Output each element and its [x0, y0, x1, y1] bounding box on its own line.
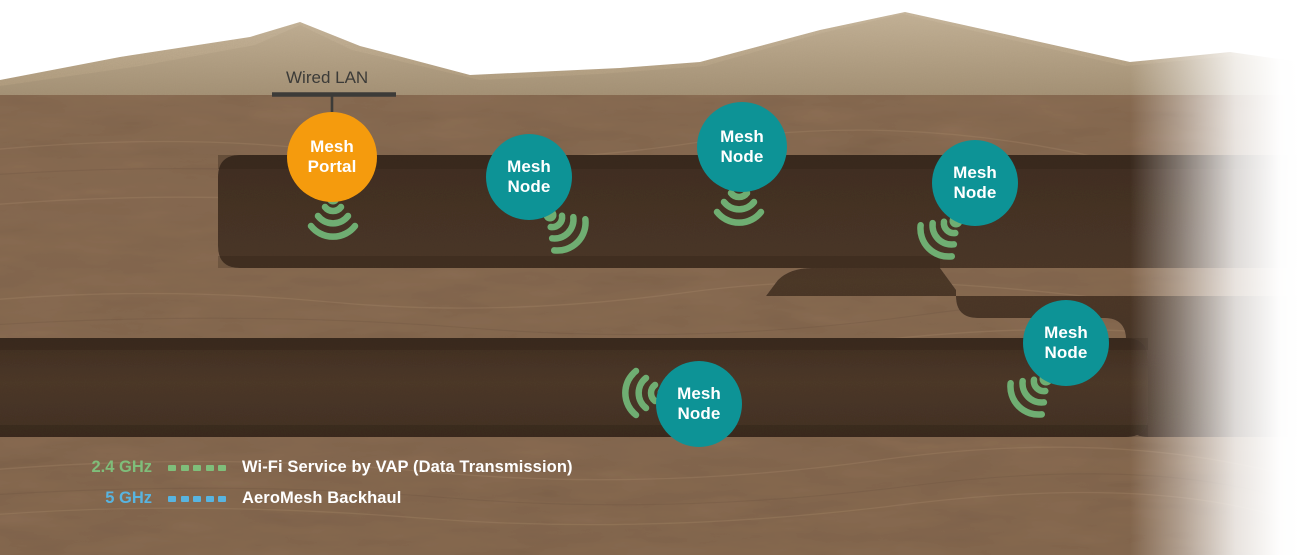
node-mesh-node-4[interactable]: Mesh Node [1023, 300, 1109, 386]
node-label-line1: Mesh [677, 384, 721, 404]
legend-row-24ghz: 2.4 GHz Wi-Fi Service by VAP (Data Trans… [70, 452, 573, 483]
legend-row-5ghz: 5 GHz AeroMesh Backhaul [70, 483, 573, 514]
node-label-line2: Node [954, 183, 997, 203]
node-label-line1: Mesh [310, 137, 354, 157]
node-label-line2: Node [508, 177, 551, 197]
node-mesh-node-5[interactable]: Mesh Node [656, 361, 742, 447]
tunnel-scene: Wired LAN [0, 0, 1300, 555]
node-mesh-node-2[interactable]: Mesh Node [697, 102, 787, 192]
wired-lan-label: Wired LAN [286, 68, 368, 88]
node-mesh-node-1[interactable]: Mesh Node [486, 134, 572, 220]
legend-dash-5ghz [168, 496, 226, 502]
legend: 2.4 GHz Wi-Fi Service by VAP (Data Trans… [70, 452, 573, 514]
node-label-line2: Node [1045, 343, 1088, 363]
node-label-line1: Mesh [507, 157, 551, 177]
legend-frequency-5ghz: 5 GHz [70, 489, 152, 508]
legend-label-5ghz: AeroMesh Backhaul [242, 489, 401, 508]
wifi-arcs-portal [306, 196, 360, 244]
node-label-line2: Node [721, 147, 764, 167]
node-label-line2: Node [678, 404, 721, 424]
diagram-canvas: Wired LAN [0, 0, 1300, 555]
legend-frequency-24ghz: 2.4 GHz [70, 458, 152, 477]
legend-dash-24ghz [168, 465, 226, 471]
node-label-line1: Mesh [1044, 323, 1088, 343]
node-label-line1: Mesh [953, 163, 997, 183]
legend-label-24ghz: Wi-Fi Service by VAP (Data Transmission) [242, 458, 573, 477]
node-mesh-node-3[interactable]: Mesh Node [932, 140, 1018, 226]
node-label-line2: Portal [308, 157, 357, 177]
node-mesh-portal[interactable]: Mesh Portal [287, 112, 377, 202]
node-label-line1: Mesh [720, 127, 764, 147]
